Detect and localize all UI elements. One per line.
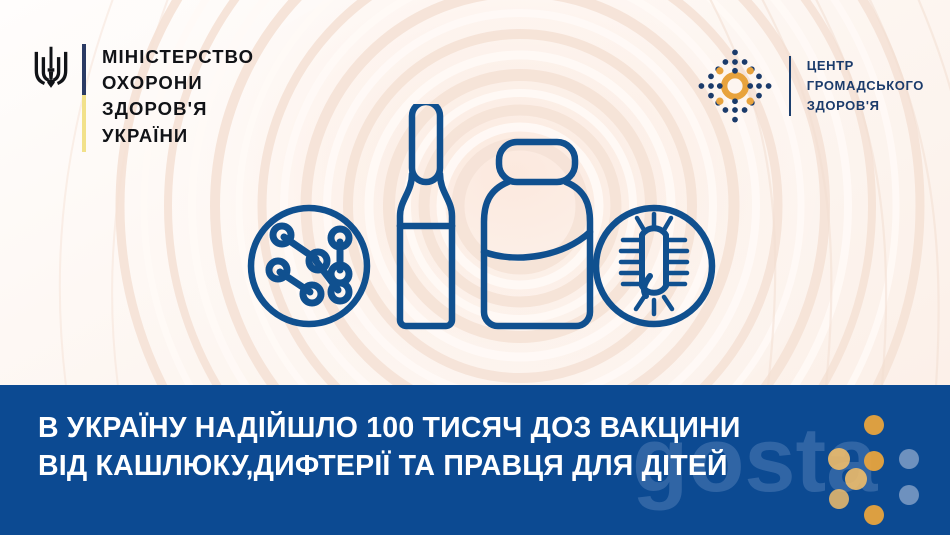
ukraine-trident-emblem bbox=[32, 46, 70, 92]
poster-root: МІНІСТЕРСТВО ОХОРОНИ ЗДОРОВ'Я УКРАЇНИ bbox=[0, 0, 950, 535]
headline-line-2: ВІД КАШЛЮКУ,ДИФТЕРІЇ ТА ПРАВЦЯ ДЛЯ ДІТЕЙ bbox=[38, 447, 910, 485]
vaccine-illustration bbox=[246, 104, 716, 349]
moz-line-4: УКРАЇНИ bbox=[102, 123, 254, 149]
cph-line-1: ЦЕНТР bbox=[807, 56, 924, 76]
headline-line-1: В УКРАЇНУ НАДІЙШЛО 100 ТИСЯЧ ДОЗ ВАКЦИНИ bbox=[38, 409, 910, 447]
moz-line-2: ОХОРОНИ bbox=[102, 70, 254, 96]
ampoule-icon bbox=[400, 104, 452, 326]
moz-line-1: МІНІСТЕРСТВО bbox=[102, 44, 254, 70]
ministry-of-health-wordmark: МІНІСТЕРСТВО ОХОРОНИ ЗДОРОВ'Я УКРАЇНИ bbox=[102, 44, 254, 149]
public-health-center-wordmark: ЦЕНТР ГРОМАДСЬКОГО ЗДОРОВ'Я bbox=[807, 56, 924, 115]
headline-banner: gosta В УКРАЇНУ НАДІЙШЛО 100 ТИСЯЧ ДОЗ В… bbox=[0, 385, 950, 535]
moz-line-3: ЗДОРОВ'Я bbox=[102, 96, 254, 122]
microbe-circle-icon bbox=[596, 208, 712, 324]
ministry-of-health-logo: МІНІСТЕРСТВО ОХОРОНИ ЗДОРОВ'Я УКРАЇНИ bbox=[32, 44, 254, 152]
public-health-center-logo: ЦЕНТР ГРОМАДСЬКОГО ЗДОРОВ'Я bbox=[695, 46, 924, 126]
cph-divider bbox=[789, 56, 791, 116]
moz-flag-divider bbox=[82, 44, 86, 152]
cph-line-3: ЗДОРОВ'Я bbox=[807, 96, 924, 116]
bacteria-circle-icon bbox=[251, 208, 367, 324]
cph-line-2: ГРОМАДСЬКОГО bbox=[807, 76, 924, 96]
vaccine-vial-icon bbox=[484, 142, 590, 326]
headline-text: В УКРАЇНУ НАДІЙШЛО 100 ТИСЯЧ ДОЗ ВАКЦИНИ… bbox=[38, 409, 910, 485]
